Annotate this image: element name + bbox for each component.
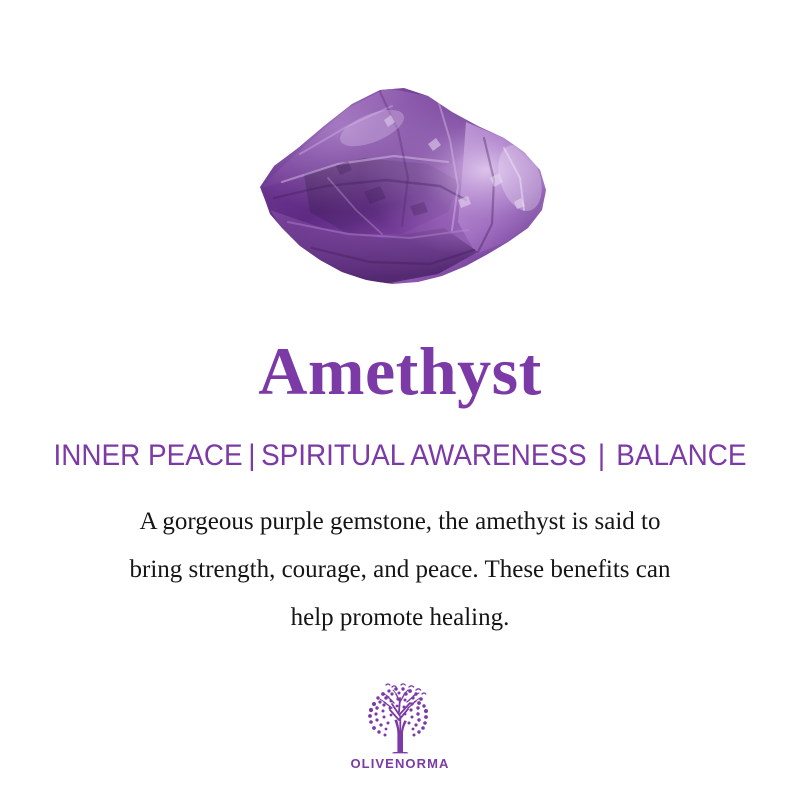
keyword-separator-2: | [587,439,617,472]
page-title: Amethyst [0,332,800,410]
keyword-separator-1: | [243,439,261,472]
keyword-inner-peace: INNER PEACE [54,439,243,472]
description-text: A gorgeous purple gemstone, the amethyst… [50,498,750,642]
gemstone-illustration [252,82,552,292]
description-line-2: bring strength, courage, and peace. Thes… [50,546,750,594]
hero-image-area [0,0,800,320]
keyword-list: INNER PEACE|SPIRITUAL AWARENESS|BALANCE [28,438,772,474]
tree-of-life-icon [356,682,444,754]
keyword-spiritual-awareness: SPIRITUAL AWARENESS [261,439,587,472]
brand-name-label: OLIVENORMA [0,756,800,771]
brand-logo: OLIVENORMA [0,682,800,771]
amethyst-info-card: Amethyst INNER PEACE|SPIRITUAL AWARENESS… [0,0,800,800]
description-line-1: A gorgeous purple gemstone, the amethyst… [50,498,750,546]
keyword-balance: BALANCE [616,439,746,472]
amethyst-gemstone-image [252,82,552,292]
description-line-3: help promote healing. [50,594,750,642]
